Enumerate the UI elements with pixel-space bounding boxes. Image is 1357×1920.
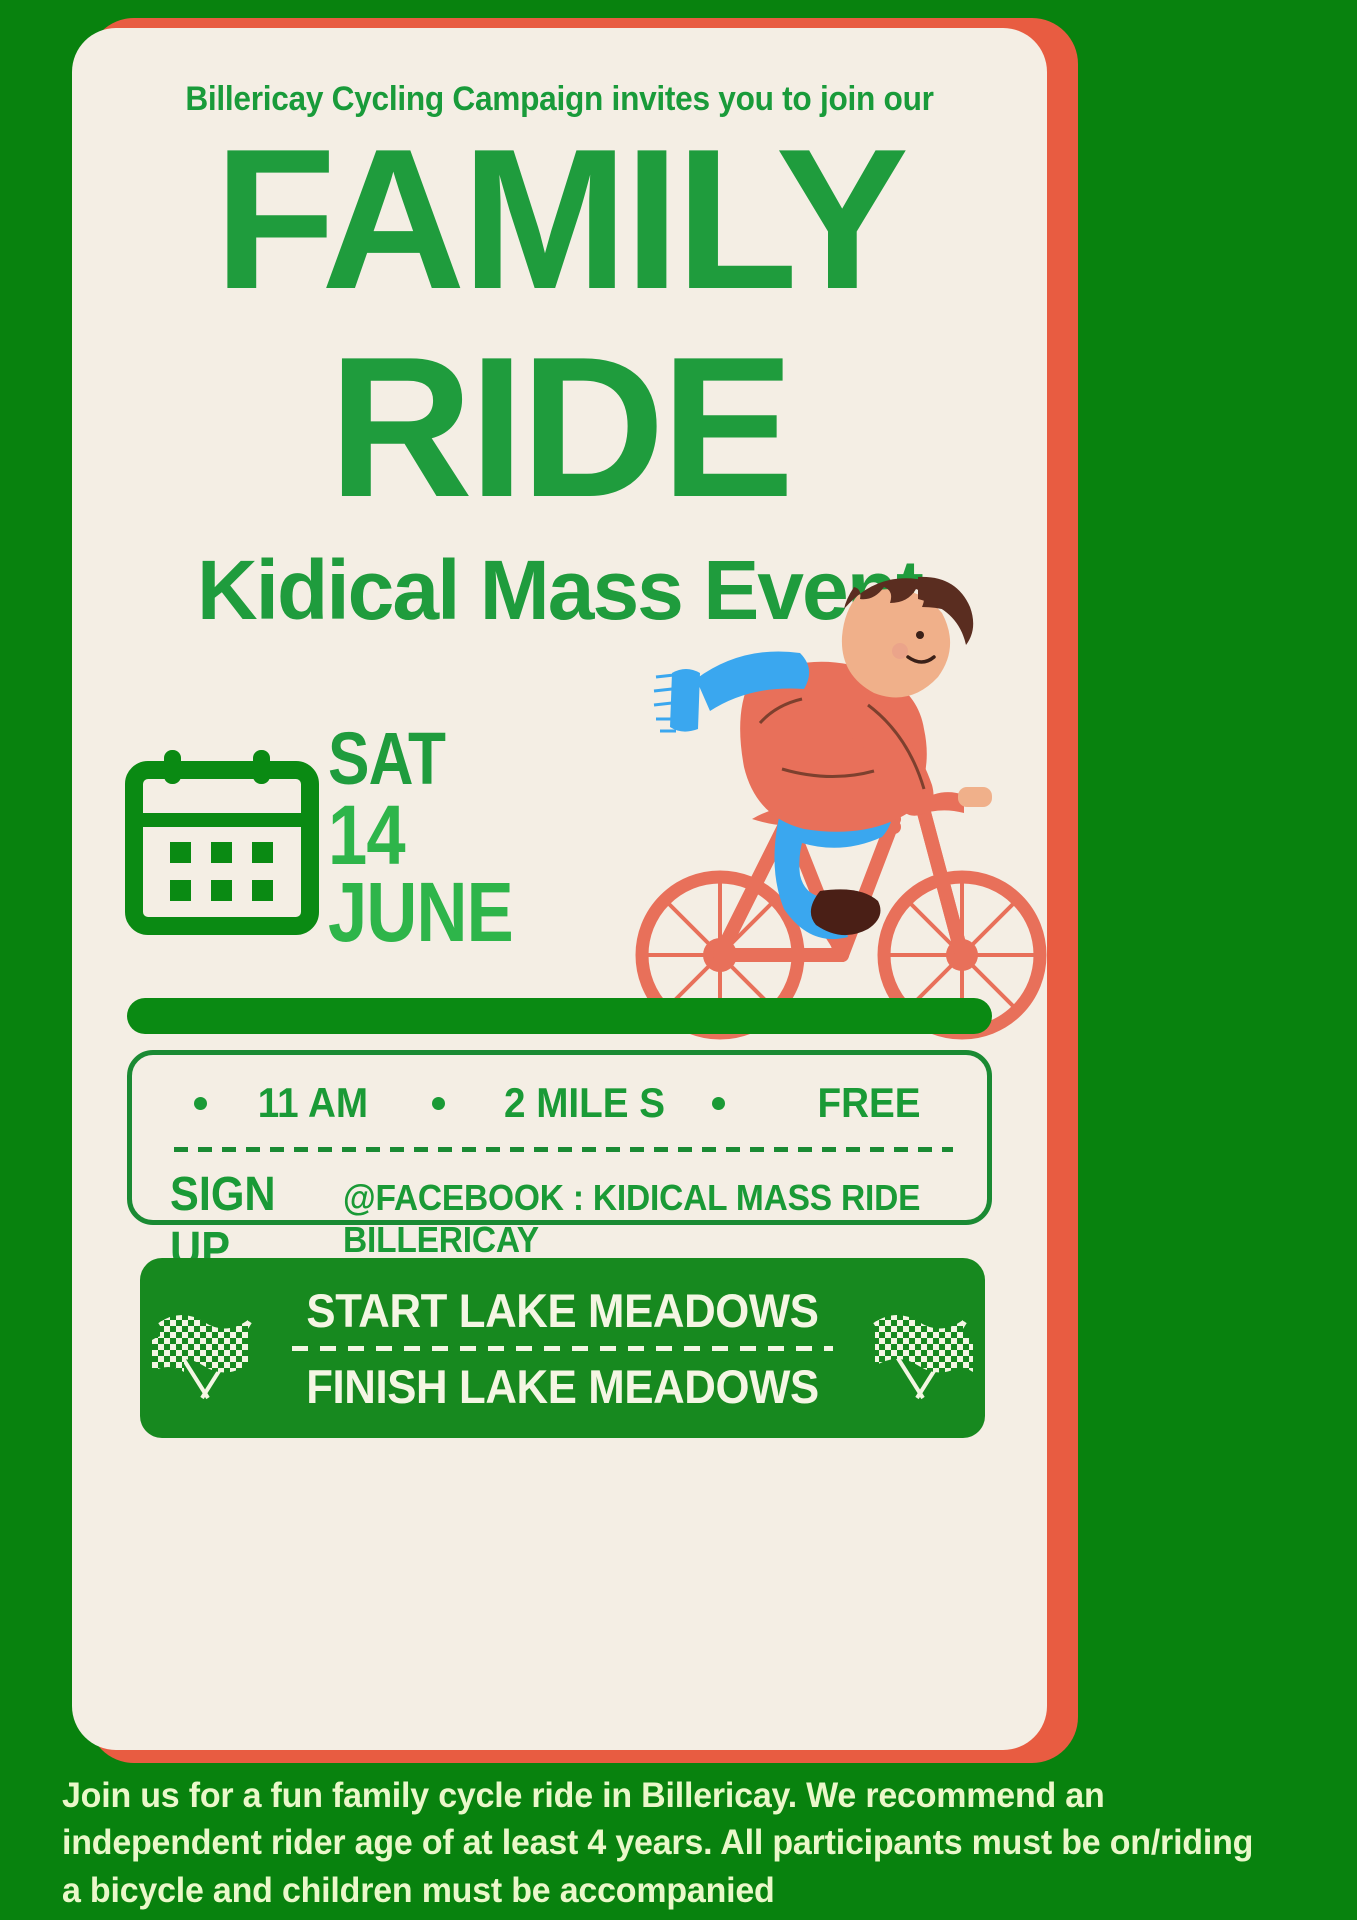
event-details-box: 11 AM 2 MILE S FREE SIGN UP @FACEBOOK : … <box>127 1050 992 1225</box>
event-date-text: SAT 14 JUNE <box>328 725 642 952</box>
route-dashed-divider <box>292 1346 833 1351</box>
event-price: FREE <box>818 1079 921 1127</box>
checkered-flags-icon <box>146 1296 264 1400</box>
event-day-month: 14 JUNE <box>328 797 592 952</box>
checkered-flags-icon <box>861 1296 979 1400</box>
event-distance: 2 MILE S <box>504 1079 665 1127</box>
bullet-dot-icon <box>712 1097 725 1110</box>
route-start: START LAKE MEADOWS <box>290 1283 834 1338</box>
poster-root: Billericay Cycling Campaign invites you … <box>0 0 1357 1920</box>
poster-title-line2: RIDE <box>72 328 1047 528</box>
event-day-of-week: SAT <box>328 725 592 793</box>
route-finish: FINISH LAKE MEADOWS <box>290 1359 834 1414</box>
cyclist-illustration <box>632 573 1047 1043</box>
bullet-dot-icon <box>194 1097 207 1110</box>
event-date-row: SAT 14 JUNE <box>122 728 642 948</box>
route-box: START LAKE MEADOWS FINISH LAKE MEADOWS <box>140 1258 985 1438</box>
signup-handle[interactable]: @FACEBOOK : KIDICAL MASS RIDE BILLERICAY <box>343 1177 933 1261</box>
route-text: START LAKE MEADOWS FINISH LAKE MEADOWS <box>270 1283 855 1414</box>
bullet-dot-icon <box>432 1097 445 1110</box>
green-divider-bar <box>127 998 992 1034</box>
poster-title-line1: FAMILY <box>72 120 1047 320</box>
event-time: 11 AM <box>257 1079 367 1127</box>
details-dashed-divider <box>174 1147 953 1152</box>
calendar-icon <box>122 738 322 938</box>
poster-card: Billericay Cycling Campaign invites you … <box>72 28 1047 1750</box>
event-details-row: 11 AM 2 MILE S FREE <box>132 1079 987 1127</box>
poster-footer-text: Join us for a fun family cycle ride in B… <box>62 1772 1265 1914</box>
